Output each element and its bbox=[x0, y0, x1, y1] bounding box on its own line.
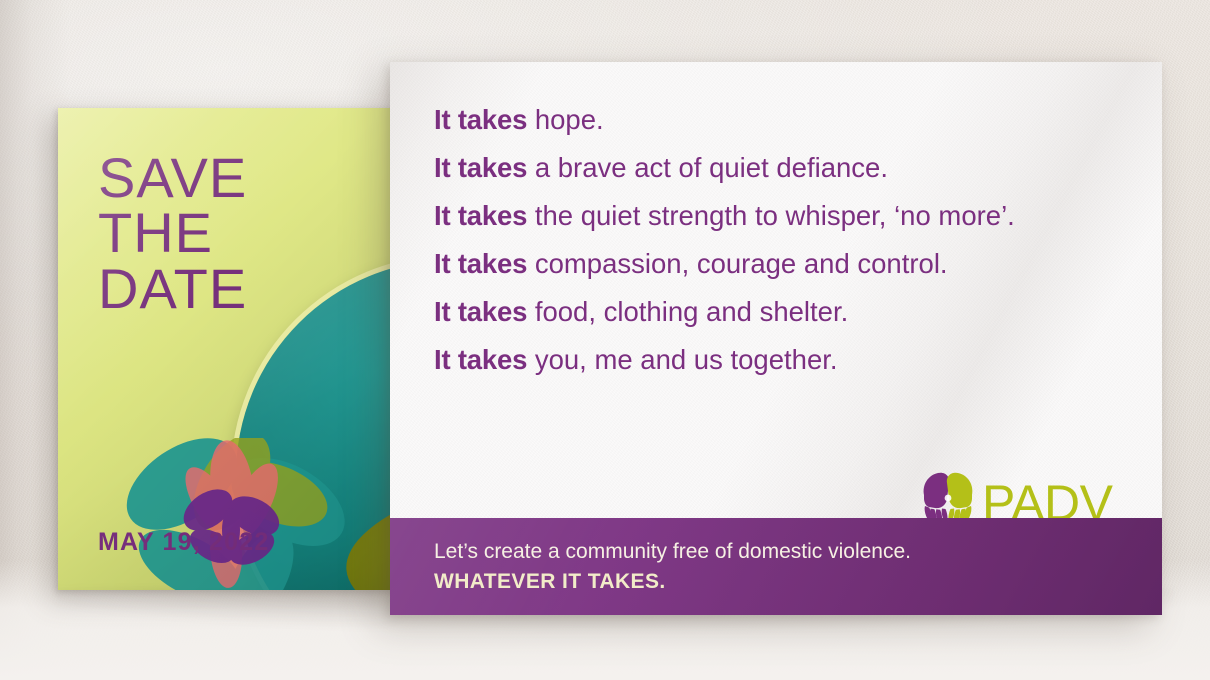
heading-line-2: THE bbox=[98, 205, 247, 260]
message-line: It takes you, me and us together. bbox=[434, 346, 1128, 374]
message-rest: the quiet strength to whisper, ‘no more’… bbox=[527, 200, 1015, 231]
flower-butterfly-icon bbox=[120, 438, 350, 590]
save-the-date-card: Partne SAVE THE DATE bbox=[58, 108, 403, 590]
message-rest: compassion, courage and control. bbox=[527, 248, 947, 279]
heading-line-3: DATE bbox=[98, 261, 247, 316]
footer-text: Let’s create a community free of domesti… bbox=[434, 539, 911, 596]
event-date: MAY 19, 2022 bbox=[98, 528, 269, 557]
save-the-date-heading: SAVE THE DATE bbox=[98, 150, 247, 316]
message-line: It takes a brave act of quiet defiance. bbox=[434, 154, 1128, 182]
footer-band: Let’s create a community free of domesti… bbox=[390, 518, 1162, 615]
message-rest: hope. bbox=[527, 104, 603, 135]
message-lead: It takes bbox=[434, 248, 527, 279]
message-line: It takes the quiet strength to whisper, … bbox=[434, 202, 1128, 230]
message-rest: you, me and us together. bbox=[527, 344, 837, 375]
message-lead: It takes bbox=[434, 152, 527, 183]
message-card: It takes hope. It takes a brave act of q… bbox=[390, 62, 1162, 615]
message-lead: It takes bbox=[434, 104, 527, 135]
message-line: It takes compassion, courage and control… bbox=[434, 250, 1128, 278]
message-rest: food, clothing and shelter. bbox=[527, 296, 848, 327]
message-lead: It takes bbox=[434, 200, 527, 231]
save-the-date-scene: Partne SAVE THE DATE bbox=[0, 0, 1210, 680]
footer-line-1: Let’s create a community free of domesti… bbox=[434, 539, 911, 565]
footer-line-2: WHATEVER IT TAKES. bbox=[434, 568, 911, 595]
message-lines: It takes hope. It takes a brave act of q… bbox=[434, 106, 1128, 394]
heading-line-1: SAVE bbox=[98, 150, 247, 205]
message-line: It takes food, clothing and shelter. bbox=[434, 298, 1128, 326]
message-lead: It takes bbox=[434, 296, 527, 327]
message-line: It takes hope. bbox=[434, 106, 1128, 134]
message-lead: It takes bbox=[434, 344, 527, 375]
message-rest: a brave act of quiet defiance. bbox=[527, 152, 888, 183]
